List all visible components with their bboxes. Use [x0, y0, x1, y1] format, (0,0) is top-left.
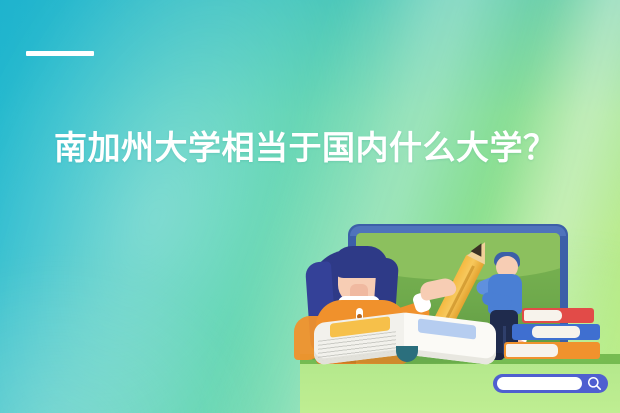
promo-banner: 南加州大学相当于国内什么大学？ — [0, 0, 620, 413]
education-illustration — [300, 196, 620, 413]
accent-rule — [26, 51, 94, 56]
page-title: 南加州大学相当于国内什么大学？ — [54, 128, 557, 168]
book-stack-bottom-pages — [506, 344, 558, 357]
book-stack-top-pages — [524, 310, 562, 321]
book-stack-middle-pages — [532, 326, 580, 338]
background-glow-bottom-left — [0, 256, 273, 413]
search-input[interactable] — [497, 377, 582, 390]
search-icon[interactable] — [586, 375, 603, 392]
